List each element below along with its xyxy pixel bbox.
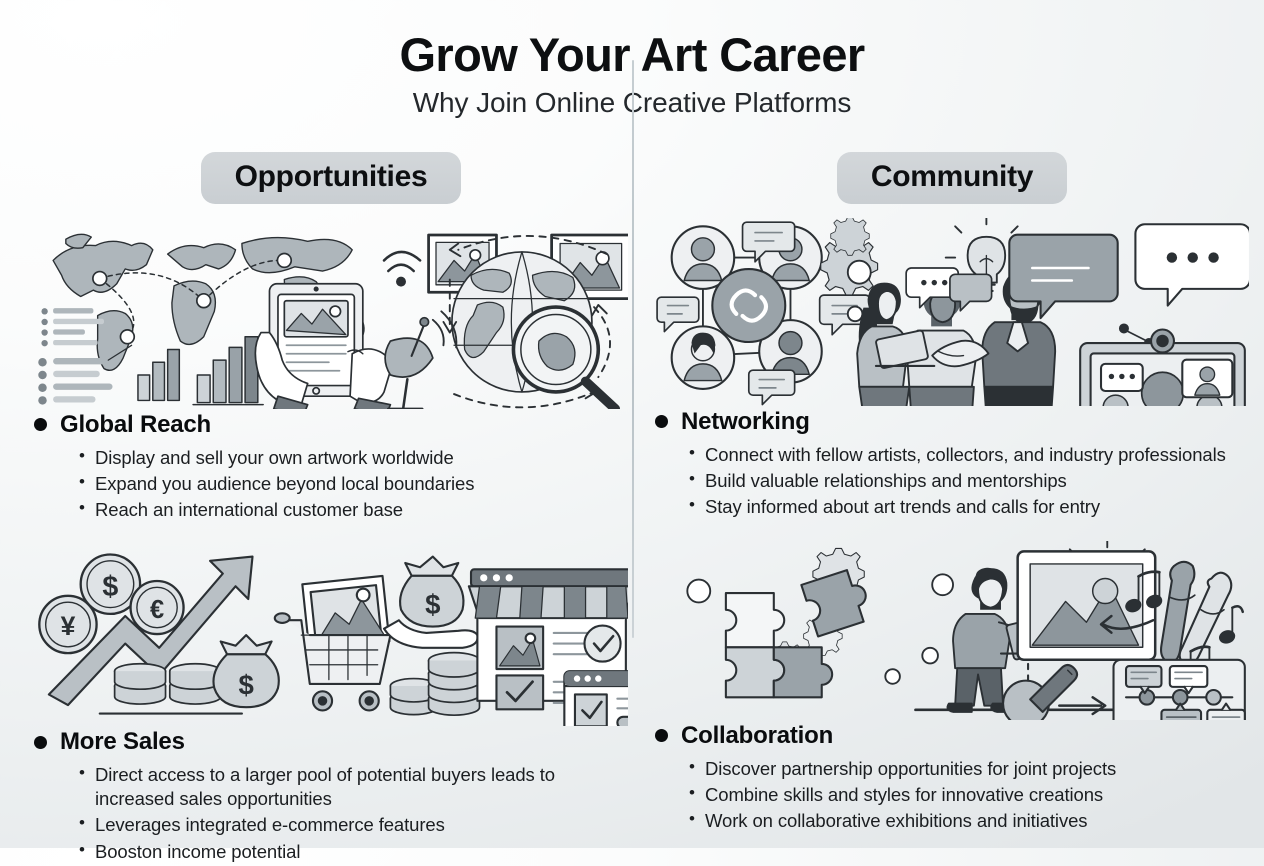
list-item: Work on collaborative exhibitions and in… (685, 809, 1249, 833)
heading-label: Collaboration (681, 722, 833, 750)
svg-text:$: $ (238, 670, 253, 701)
columns-container: Opportunities (0, 152, 1264, 852)
column-community: Community (655, 152, 1249, 835)
infographic-page: Grow Your Art Career Why Join Online Cre… (0, 0, 1264, 848)
heading-label: Networking (681, 408, 810, 436)
column-opportunities: Opportunities (34, 152, 628, 866)
svg-text:$: $ (425, 589, 440, 620)
svg-text:$: $ (102, 571, 118, 603)
list-item: Combine skills and styles for innovative… (685, 783, 1249, 807)
bullet-dot-icon (655, 729, 668, 742)
bullet-list-global-reach: Display and sell your own artwork worldw… (75, 446, 628, 522)
heading-label: More Sales (60, 728, 185, 756)
list-item: Build valuable relationships and mentors… (685, 469, 1249, 493)
heading-networking: Networking (655, 408, 1249, 436)
heading-global-reach: Global Reach (34, 411, 628, 439)
list-item: Booston income potential (75, 840, 628, 864)
bullet-list-networking: Connect with fellow artists, collectors,… (685, 443, 1249, 519)
heading-collaboration: Collaboration (655, 722, 1249, 750)
list-item: Direct access to a larger pool of potent… (75, 763, 628, 811)
section-pill-opportunities: Opportunities (201, 152, 462, 204)
networking-illustration (655, 218, 1249, 406)
more-sales-illustration: ¥ $ € (34, 546, 628, 726)
pill-wrap-community: Community (655, 152, 1249, 204)
bullet-list-more-sales: Direct access to a larger pool of potent… (75, 763, 628, 863)
pill-wrap-opportunities: Opportunities (34, 152, 628, 204)
bullet-dot-icon (34, 736, 47, 749)
list-item: Stay informed about art trends and calls… (685, 495, 1249, 519)
block-more-sales: ¥ $ € (34, 546, 628, 864)
list-item: Reach an international customer base (75, 498, 628, 522)
bullet-list-collaboration: Discover partnership opportunities for j… (685, 757, 1249, 833)
collaboration-illustration (655, 541, 1249, 720)
block-global-reach: Global Reach Display and sell your own a… (34, 218, 628, 522)
block-collaboration: Collaboration Discover partnership oppor… (655, 541, 1249, 833)
bullet-dot-icon (34, 418, 47, 431)
section-pill-community: Community (837, 152, 1067, 204)
block-networking: Networking Connect with fellow artists, … (655, 218, 1249, 519)
list-item: Leverages integrated e-commerce features (75, 813, 628, 837)
list-item: Connect with fellow artists, collectors,… (685, 443, 1249, 467)
heading-label: Global Reach (60, 411, 211, 439)
list-item: Display and sell your own artwork worldw… (75, 446, 628, 470)
list-item: Expand you audience beyond local boundar… (75, 472, 628, 496)
bullet-dot-icon (655, 415, 668, 428)
global-reach-illustration (34, 218, 628, 409)
list-item: Discover partnership opportunities for j… (685, 757, 1249, 781)
heading-more-sales: More Sales (34, 728, 628, 756)
svg-text:¥: ¥ (61, 611, 76, 641)
svg-text:€: € (150, 596, 164, 624)
